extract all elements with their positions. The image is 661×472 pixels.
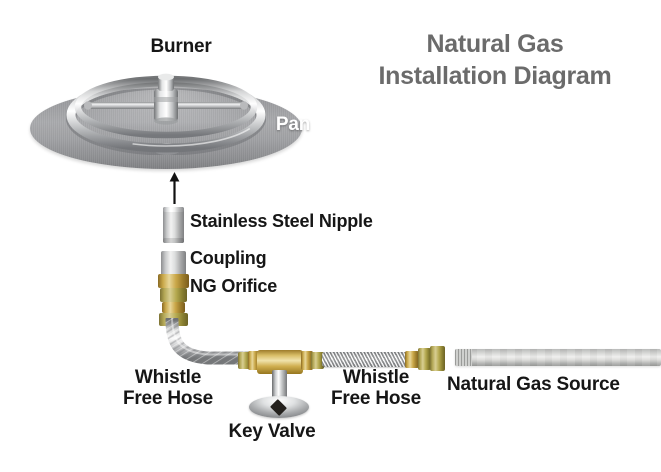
flow-arrow-up-icon [168, 172, 181, 204]
orifice-label: NG Orifice [190, 277, 277, 296]
gas-source-label: Natural Gas Source [447, 375, 620, 396]
title-line-2: Installation Diagram [379, 62, 612, 90]
hose-right-end-fitting-a [405, 351, 419, 368]
hose-right-label: Whistle Free Hose [331, 368, 421, 409]
coupling-label: Coupling [190, 249, 266, 268]
nipple-label: Stainless Steel Nipple [190, 212, 373, 231]
stainless-steel-nipple-component [163, 207, 184, 243]
hose-left-label: Whistle Free Hose [123, 368, 213, 409]
hose-right-label-line2: Free Hose [331, 388, 421, 409]
burner-label: Burner [150, 37, 211, 58]
diagram-canvas: Natural Gas Installation Diagram Burner … [0, 0, 661, 472]
page-title: Natural Gas Installation Diagram [379, 28, 612, 92]
hose-left-label-line1: Whistle [135, 367, 201, 388]
key-valve-label: Key Valve [229, 422, 316, 443]
orifice-hex-upper [158, 274, 189, 288]
natural-gas-source-pipe [455, 349, 661, 366]
whistle-free-hose-right-component [322, 352, 408, 367]
hose-right-end-nut [430, 346, 445, 371]
orifice-hex-mid [160, 288, 187, 302]
burner-ring-component [66, 63, 266, 155]
orifice-hex-lower [162, 302, 185, 313]
hose-left-label-line2: Free Hose [123, 388, 213, 409]
hose-right-label-line1: Whistle [343, 367, 409, 388]
pan-label: Pan [276, 115, 310, 136]
title-line-1: Natural Gas [426, 30, 563, 58]
gas-pipe-threaded-end [455, 349, 472, 366]
